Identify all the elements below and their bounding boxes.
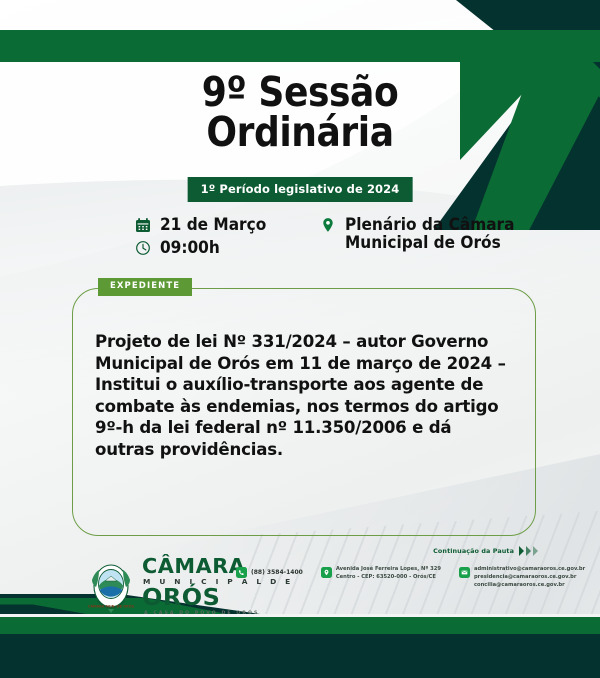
contact-email: administrativo@camaraoros.ce.gov.br pres… xyxy=(459,566,585,589)
place-line-1: Plenário da Câmara xyxy=(345,215,514,234)
footer-dark-band xyxy=(0,634,600,678)
expediente-body-text: Projeto de lei Nº 331/2024 – autor Gover… xyxy=(95,331,513,460)
time-row: 09:00h xyxy=(135,239,274,257)
brand-line-3: ORÓS xyxy=(142,587,299,610)
contact-phone-text: (88) 3584-1400 xyxy=(251,568,303,577)
contact-address: Avenida José Ferreira Lopes, Nº 329 Cent… xyxy=(321,566,441,582)
phone-icon xyxy=(236,567,247,578)
title-line-2: Ordinária xyxy=(36,112,564,152)
place-row: Plenário da Câmara Municipal de Orós xyxy=(320,216,527,253)
brand-line-4: A CASA DO POVO DE ORÓS xyxy=(144,612,293,617)
session-place: Plenário da Câmara Municipal de Orós xyxy=(345,216,514,253)
date-row: 21 de Março xyxy=(135,216,274,234)
contact-email-text: administrativo@camaraoros.ce.gov.br pres… xyxy=(474,566,585,589)
session-meta: 21 de Março 09:00h Plenário da Câmara Mu… xyxy=(135,216,528,258)
contact-address-text: Avenida José Ferreira Lopes, Nº 329 Cent… xyxy=(336,566,441,582)
contact-list: (88) 3584-1400 Avenida José Ferreira Lop… xyxy=(236,566,585,589)
expediente-badge: EXPEDIENTE xyxy=(98,278,192,296)
coat-of-arms-icon: CÂMARA MUN. DE ORÓS xyxy=(88,560,134,614)
mail-icon xyxy=(459,567,470,578)
clock-icon xyxy=(135,240,151,256)
page-title: 9º Sessão Ordinária xyxy=(36,72,564,152)
map-pin-icon xyxy=(320,217,336,233)
datetime-column: 21 de Março 09:00h xyxy=(135,216,274,258)
place-column: Plenário da Câmara Municipal de Orós xyxy=(320,216,527,258)
contact-phone: (88) 3584-1400 xyxy=(236,566,303,578)
svg-text:CÂMARA MUN. DE ORÓS: CÂMARA MUN. DE ORÓS xyxy=(88,603,134,608)
footer-green-band xyxy=(0,616,600,634)
expediente-card: EXPEDIENTE Projeto de lei Nº 331/2024 – … xyxy=(72,288,536,536)
session-date: 21 de Março xyxy=(160,216,266,234)
map-pin-icon xyxy=(321,567,332,578)
calendar-icon xyxy=(135,217,151,233)
session-time: 09:00h xyxy=(160,239,220,257)
legislative-period-badge: 1º Período legislativo de 2024 xyxy=(188,177,413,202)
place-line-2: Municipal de Orós xyxy=(345,233,501,252)
footer: CÂMARA MUN. DE ORÓS CÂMARA M U N I C I P… xyxy=(0,552,600,614)
poster-canvas: 9º Sessão Ordinária 1º Período legislati… xyxy=(0,0,600,678)
